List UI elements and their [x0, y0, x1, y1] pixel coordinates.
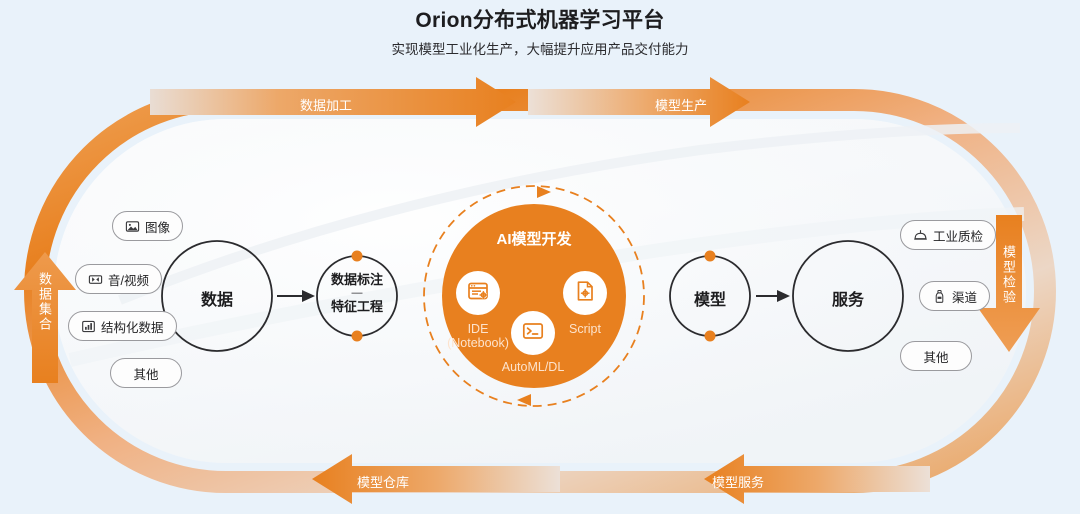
ide-icon-badge[interactable]	[456, 271, 500, 315]
helmet-icon	[913, 228, 928, 243]
pill-label: 图像	[145, 217, 170, 236]
pill-image[interactable]: 图像	[112, 211, 183, 241]
node-label-labeling: 数据标注 — 特征工程	[307, 272, 407, 316]
pill-label: 工业质检	[933, 226, 983, 245]
flow-label-data-processing: 数据加工	[300, 95, 352, 114]
pill-industrial-inspection[interactable]: 工业质检	[900, 220, 996, 250]
pill-label: 音/视频	[108, 270, 149, 289]
flow-label-data-collection: 数据集合	[38, 272, 51, 332]
pill-other-left[interactable]: 其他	[110, 358, 182, 388]
node-label-data: 数据	[167, 286, 267, 310]
junction-dot-model-bottom	[705, 331, 716, 342]
node-label-model: 模型	[660, 286, 760, 310]
video-icon	[88, 272, 103, 287]
automl-icon-badge[interactable]	[511, 311, 555, 355]
pill-label: 结构化数据	[101, 317, 164, 336]
flow-label-model-service: 模型服务	[712, 472, 764, 491]
automl-caption-line1: AutoML/DL	[468, 360, 598, 374]
diagram-canvas: Orion分布式机器学习平台 实现模型工业化生产，大幅提升应用产品交付能力	[0, 0, 1080, 514]
image-icon	[125, 219, 140, 234]
node-label-service: 服务	[798, 286, 898, 310]
pill-label: 渠道	[952, 287, 977, 306]
automl-caption: AutoML/DL	[468, 360, 598, 374]
bottle-icon	[932, 289, 947, 304]
pill-structured-data[interactable]: 结构化数据	[68, 311, 177, 341]
node-label-labeling-divider: —	[307, 288, 407, 299]
flow-label-model-validation: 模型检验	[1002, 245, 1015, 305]
background-layer	[0, 0, 1080, 514]
script-icon-badge[interactable]	[563, 271, 607, 315]
flow-label-model-production: 模型生产	[655, 95, 707, 114]
script-file-icon	[573, 279, 597, 308]
junction-dot-labeling-top	[352, 251, 363, 262]
pill-audio-video[interactable]: 音/视频	[75, 264, 162, 294]
flow-label-model-repository: 模型仓库	[357, 472, 409, 491]
junction-dot-model-top	[705, 251, 716, 262]
node-label-labeling-line2: 特征工程	[307, 299, 407, 315]
notebook-icon	[466, 279, 490, 308]
pill-other-right[interactable]: 其他	[900, 341, 972, 371]
terminal-icon	[521, 319, 545, 348]
pill-channel[interactable]: 渠道	[919, 281, 990, 311]
junction-dot-labeling-bottom	[352, 331, 363, 342]
bar-chart-icon	[81, 319, 96, 334]
ai-core-title: AI模型开发	[434, 228, 634, 249]
pill-label: 其他	[133, 364, 158, 383]
node-label-labeling-line1: 数据标注	[307, 272, 407, 288]
pill-label: 其他	[923, 347, 948, 366]
